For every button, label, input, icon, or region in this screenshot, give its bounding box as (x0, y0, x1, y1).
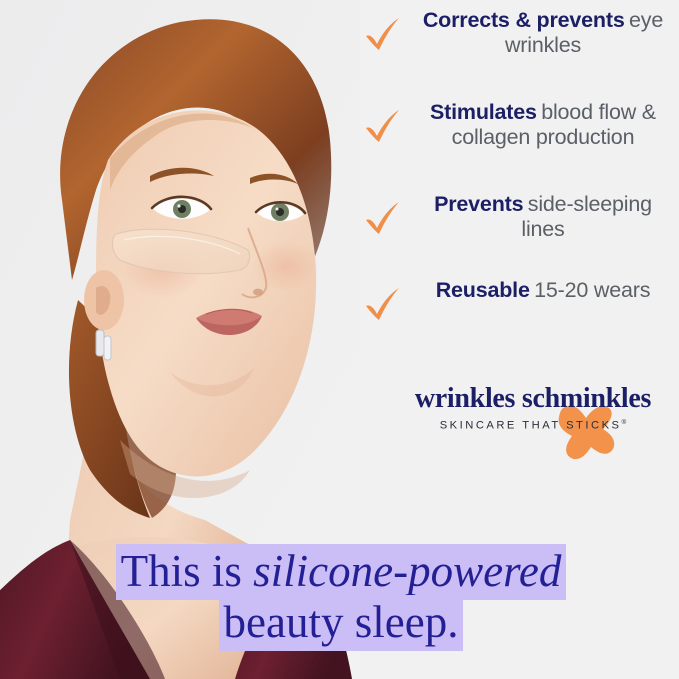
benefit-item: Stimulates blood flow & collagen product… (352, 100, 676, 162)
check-icon (362, 106, 402, 146)
logo-tagline-text: SKINCARE THAT STICKS (440, 420, 622, 432)
headline-line2: beauty sleep. (224, 597, 459, 647)
check-icon (362, 284, 402, 324)
benefit-rest: 15-20 wears (534, 278, 650, 302)
headline-line1-plain: This is (121, 546, 254, 596)
benefit-lead: Stimulates (430, 100, 537, 124)
benefit-item: Corrects & prevents eye wrinkles (352, 8, 676, 70)
benefit-lead: Corrects & prevents (423, 8, 625, 32)
benefits-list: Corrects & prevents eye wrinkles Stimula… (352, 8, 676, 320)
logo-tagline: SKINCARE THAT STICKS® (398, 419, 668, 432)
headline: This is silicone-powered beauty sleep. (56, 548, 626, 646)
check-icon (362, 14, 402, 54)
benefit-item: Reusable 15-20 wears (352, 278, 676, 340)
logo-wordmark: wrinkles schminkles (398, 383, 668, 415)
check-icon (362, 198, 402, 238)
benefit-lead: Prevents (434, 192, 523, 216)
brand-logo: wrinkles schminkles SKINCARE THAT STICKS… (398, 383, 668, 465)
headline-line1-italic: silicone-powered (253, 546, 561, 596)
benefit-lead: Reusable (436, 278, 530, 302)
benefit-rest: side-sleeping lines (521, 192, 652, 241)
benefit-item: Prevents side-sleeping lines (352, 192, 676, 254)
trademark-symbol: ® (622, 419, 627, 426)
product-marketing-image: Corrects & prevents eye wrinkles Stimula… (0, 0, 679, 679)
